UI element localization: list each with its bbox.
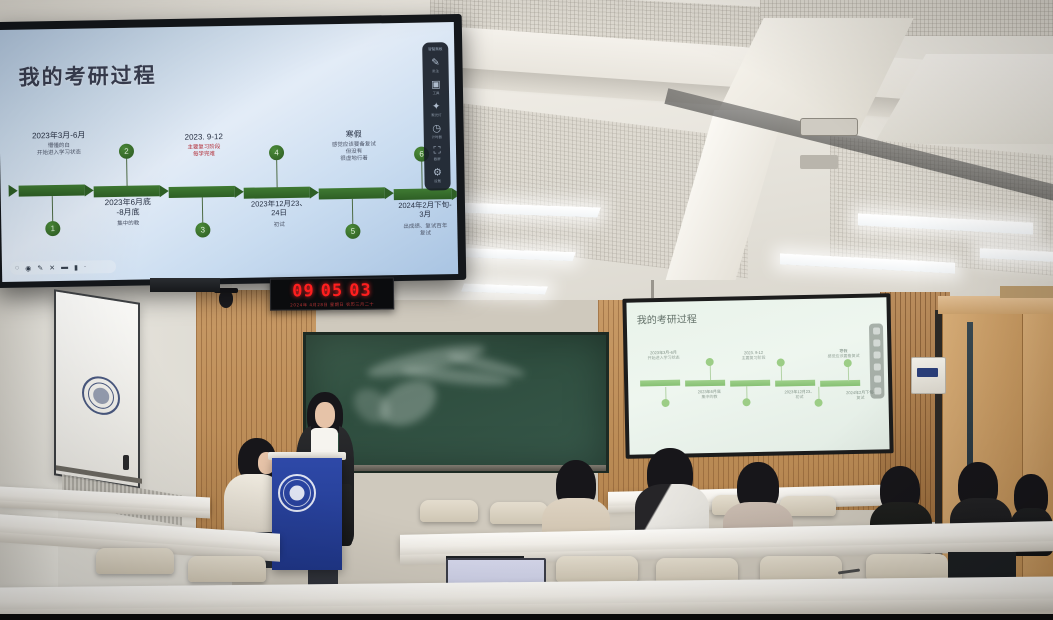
capture-icon: ⛶ — [433, 146, 440, 156]
classroom-photo: 我的考研过程 1 2 3 4 5 6 2023年3月-6月 — [0, 0, 1053, 620]
display-screen[interactable]: 我的考研过程 1 2 3 4 5 6 2023年3月-6月 — [0, 22, 458, 282]
pen-icon[interactable] — [873, 327, 880, 334]
projector-stem-6 — [848, 366, 849, 381]
projector-screen: 我的考研过程 2023年3月-6月 开始进入学习状态 2023年6 — [626, 297, 889, 454]
chair-a1 — [420, 500, 478, 522]
timeline-label-3: 2023. 9-12 主要复习阶段 每学完难 — [160, 132, 248, 159]
right-wall-fixture — [1000, 286, 1053, 298]
timeline-label-1-date: 2023年3月-6月 — [14, 130, 104, 142]
timeline-stem-5 — [352, 199, 353, 227]
timeline-label-5: 寒假 感觉应该要备复试 但没有 很虚地行着 — [308, 129, 401, 163]
timeline-label-6-sub1: 出成绩、复试百年 — [377, 222, 458, 231]
slide-title: 我的考研过程 — [18, 59, 157, 91]
settings-icon: ⚙ — [433, 168, 442, 178]
projector-stem-4 — [781, 365, 782, 380]
clock-time: 09 05 03 — [271, 280, 393, 301]
timeline-segment-1 — [19, 185, 85, 197]
display-toolbar-header: 智慧黑板 — [428, 47, 442, 53]
display-side-toolbar[interactable]: 智慧黑板 ✎ 批注 ▣ 工具 ✦ 聚光灯 ◷ 计时器 ⛶ — [422, 42, 451, 190]
timeline-segment-4 — [244, 187, 310, 199]
projector-screen-rod-left — [651, 280, 654, 298]
photo-bottom-letterbox — [0, 614, 1053, 620]
projector-segment-2 — [685, 380, 725, 387]
timeline-label-3-sub2: 每学完难 — [160, 151, 248, 159]
university-seal — [82, 374, 120, 418]
timeline-stem-6 — [421, 161, 423, 190]
timeline-segment-3 — [169, 186, 235, 198]
ceiling-sensor-device — [800, 155, 838, 169]
projector-segment-4 — [775, 380, 815, 387]
display-toolbar-settings-label: 设置 — [434, 179, 441, 184]
display-toolbar-capture[interactable]: ⛶ 截屏 — [433, 146, 441, 162]
projector-segment-5 — [820, 380, 860, 387]
control-panel-label — [917, 368, 938, 377]
display-wall-mount — [150, 278, 220, 292]
projector-label-3-sub: 主要复习阶段 — [726, 355, 782, 361]
timeline-stem-1 — [52, 196, 53, 224]
projector-node-5 — [814, 399, 822, 407]
timeline-stem-3 — [202, 197, 203, 225]
toolbox-icon: ▣ — [431, 80, 441, 90]
timeline-label-2: 2023年6月底 -8月底 集中的教 — [86, 197, 171, 228]
door-header-trim — [938, 296, 1053, 314]
timeline-start-arrow — [9, 185, 18, 197]
projector-toolbar[interactable] — [869, 323, 885, 398]
projector-label-5: 寒假 感觉应该要备复试 — [813, 348, 873, 360]
projector-node-2 — [706, 358, 714, 366]
wall-left-column — [0, 272, 58, 620]
timeline-node-1: 1 — [45, 221, 60, 236]
timeline-stem-2 — [126, 158, 128, 187]
timeline-label-2-date2: -8月底 — [86, 207, 170, 218]
timeline-label-2-sub1: 集中的教 — [86, 220, 170, 228]
projector-label-4: 2023年12月23、 初试 — [768, 388, 830, 400]
projector-node-1 — [661, 399, 669, 407]
timeline-label-5-date: 寒假 — [308, 129, 400, 141]
clock-hours: 09 — [292, 281, 315, 301]
timeline-label-6: 2024年2月下旬- 3月 出成绩、复试百年 复试 — [377, 200, 458, 238]
timeline-label-6-date: 2024年2月下旬- — [377, 200, 458, 211]
interactive-display[interactable]: 我的考研过程 1 2 3 4 5 6 2023年3月-6月 — [0, 14, 466, 288]
pen-icon: ✎ — [431, 58, 440, 68]
whiteboard-marker — [123, 455, 129, 470]
pen-icon[interactable]: ✎ — [37, 264, 43, 272]
timeline-label-5-sub3: 很虚地行着 — [308, 155, 400, 163]
timeline-label-4-date2: 24日 — [233, 208, 325, 219]
back-icon[interactable]: ◌ — [15, 265, 19, 272]
display-toolbar-toolbox[interactable]: ▣ 工具 — [431, 80, 441, 96]
tool-icon[interactable] — [873, 339, 880, 346]
projector-label-5-sub: 感觉应该要备复试 — [814, 353, 874, 359]
clock-seconds: 03 — [349, 281, 372, 301]
projector-node-3 — [742, 398, 750, 406]
wall-camera — [219, 291, 233, 308]
timeline-node-5: 5 — [345, 224, 360, 239]
projector-label-1-sub: 开始进入学习状态 — [634, 355, 694, 361]
chair-b2 — [188, 556, 266, 582]
display-toolbar-timer-label: 计时器 — [432, 135, 442, 140]
projector-screen-surface: 我的考研过程 2023年3月-6月 开始进入学习状态 2023年6 — [626, 297, 889, 454]
display-toolbar-capture-label: 截屏 — [434, 157, 441, 162]
more-icon[interactable] — [874, 387, 881, 394]
display-toolbar-settings[interactable]: ⚙ 设置 — [433, 168, 442, 184]
clock-date-line: 2024年 4月28日 星期日 农历三月二十 — [271, 301, 393, 308]
timeline-label-6-date2: 3月 — [377, 209, 458, 220]
ceiling-projector-device — [800, 118, 858, 136]
projector-stem-2 — [710, 365, 711, 380]
projector-label-1: 2023年3月-6月 开始进入学习状态 — [633, 349, 693, 361]
eraser-icon[interactable] — [873, 363, 880, 370]
display-toolbar-pen-label: 批注 — [432, 69, 439, 74]
timeline-label-6-sub2: 复试 — [377, 229, 458, 238]
undo-icon[interactable] — [874, 375, 881, 382]
chair-b6 — [866, 554, 948, 580]
blue-lectern — [272, 452, 342, 570]
projector-segment-3 — [730, 380, 770, 387]
timeline-node-4: 4 — [269, 145, 284, 160]
shape-icon[interactable] — [873, 351, 880, 358]
display-toolbar-pen[interactable]: ✎ 批注 — [431, 58, 440, 74]
close-icon[interactable]: ✕ — [49, 264, 55, 272]
spotlight-icon: ✦ — [432, 102, 441, 112]
clock-minutes: 05 — [321, 281, 344, 301]
display-toolbar-spotlight[interactable]: ✦ 聚光灯 — [430, 102, 442, 118]
digital-clock: 09 05 03 2024年 4月28日 星期日 农历三月二十 — [270, 277, 394, 310]
timeline-label-4-sub1: 初试 — [233, 221, 325, 229]
more-icon[interactable]: · — [84, 264, 86, 271]
projector-label-3: 2023. 9-12 主要复习阶段 — [725, 350, 781, 362]
display-bottom-toolbar[interactable]: ◌ ◉ ✎ ✕ ▬ ▮ · — [10, 260, 116, 275]
timeline-node-3: 3 — [195, 222, 210, 237]
keyboard-icon[interactable]: ▬ — [61, 264, 68, 271]
projector-node-6 — [844, 359, 852, 367]
timer-icon: ◷ — [432, 124, 441, 134]
chair-b1 — [96, 548, 174, 574]
chair-b3 — [556, 556, 638, 582]
display-toolbar-timer[interactable]: ◷ 计时器 — [431, 124, 443, 140]
projector-label-2-sub: 集中的教 — [680, 394, 738, 400]
lectern-body — [272, 458, 342, 570]
timeline-stem-4 — [276, 159, 278, 188]
display-toolbar-spotlight-label: 聚光灯 — [431, 113, 441, 118]
projector-segment-1 — [640, 380, 680, 387]
display-toolbar-toolbox-label: 工具 — [433, 91, 440, 96]
projector-slide-title: 我的考研过程 — [637, 313, 697, 327]
presenter-face — [315, 402, 335, 428]
home-icon[interactable]: ◉ — [25, 264, 31, 272]
timeline-label-1: 2023年3月-6月 懵懂的白 开始进入学习状态 — [14, 130, 104, 157]
lectern-emblem — [278, 474, 316, 512]
timeline-label-4: 2023年12月23、 24日 初试 — [233, 198, 326, 229]
timeline-label-3-date: 2023. 9-12 — [160, 132, 248, 144]
timeline-label-1-sub2: 开始进入学习状态 — [14, 149, 104, 157]
timeline-node-2: 2 — [119, 144, 134, 159]
projector-label-2: 2023年6月底 集中的教 — [680, 388, 738, 400]
timeline-segment-2 — [94, 185, 160, 197]
timeline-segment-5 — [319, 187, 385, 199]
delete-icon[interactable]: ▮ — [74, 263, 78, 271]
